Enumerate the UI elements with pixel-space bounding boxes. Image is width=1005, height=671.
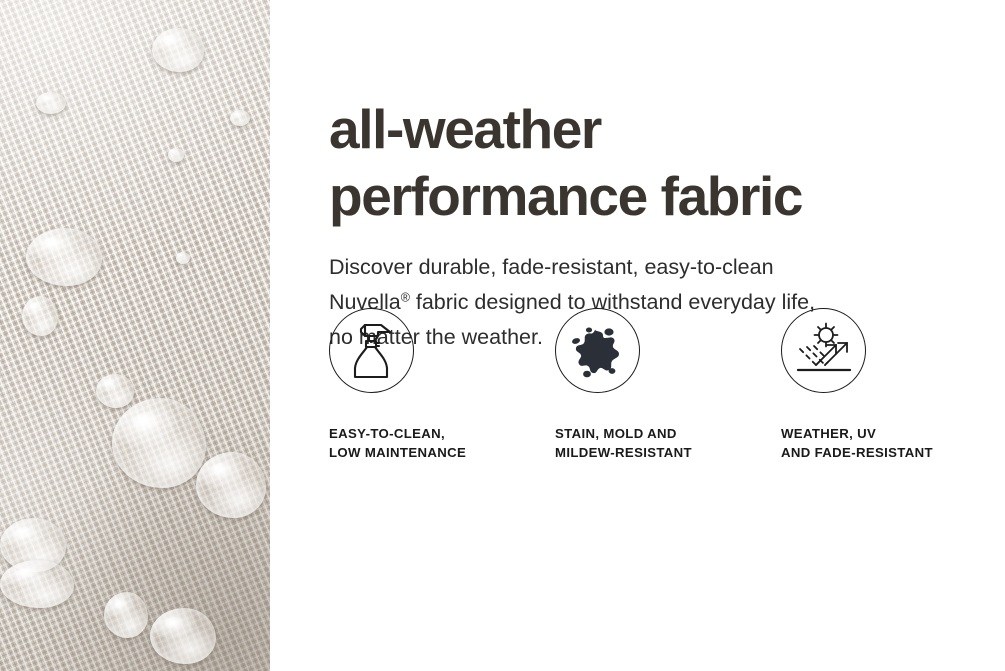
- water-droplet: [36, 92, 66, 114]
- feature-easy-to-clean: EASY-TO-CLEAN, LOW MAINTENANCE: [329, 308, 555, 462]
- feature-caption: STAIN, MOLD AND MILDEW-RESISTANT: [555, 425, 781, 462]
- water-droplet: [0, 560, 74, 608]
- registered-mark: ®: [401, 290, 410, 304]
- caption-line-2: AND FADE-RESISTANT: [781, 444, 991, 463]
- page-title: all-weather performance fabric: [329, 96, 1005, 230]
- water-droplet: [196, 452, 266, 518]
- water-droplet: [168, 148, 184, 162]
- water-droplet: [104, 592, 148, 638]
- caption-line-1: WEATHER, UV: [781, 425, 991, 444]
- content-panel: all-weather performance fabric Discover …: [270, 0, 1005, 671]
- headline-line-1: all-weather: [329, 96, 1005, 163]
- caption-line-2: MILDEW-RESISTANT: [555, 444, 781, 463]
- water-droplet: [176, 252, 190, 264]
- feature-caption: WEATHER, UV AND FADE-RESISTANT: [781, 425, 991, 462]
- feature-weather-uv-resistant: WEATHER, UV AND FADE-RESISTANT: [781, 308, 991, 462]
- water-droplet: [112, 398, 206, 488]
- feature-caption: EASY-TO-CLEAN, LOW MAINTENANCE: [329, 425, 555, 462]
- water-droplet: [152, 28, 204, 72]
- all-weather-fabric-banner: all-weather performance fabric Discover …: [0, 0, 1005, 671]
- stain-splatter-icon: [555, 308, 640, 393]
- water-droplet: [230, 110, 250, 126]
- spray-bottle-icon: [329, 308, 414, 393]
- caption-line-2: LOW MAINTENANCE: [329, 444, 555, 463]
- description-line-1: Discover durable, fade-resistant, easy-t…: [329, 250, 1005, 285]
- fabric-photo: [0, 0, 270, 671]
- caption-line-1: STAIN, MOLD AND: [555, 425, 781, 444]
- headline-line-2: performance fabric: [329, 163, 1005, 230]
- water-droplet: [150, 608, 216, 664]
- water-droplet: [96, 374, 134, 408]
- feature-stain-resistant: STAIN, MOLD AND MILDEW-RESISTANT: [555, 308, 781, 462]
- caption-line-1: EASY-TO-CLEAN,: [329, 425, 555, 444]
- feature-list: EASY-TO-CLEAN, LOW MAINTENANCE: [329, 308, 989, 462]
- sun-reflect-icon: [781, 308, 866, 393]
- water-droplet: [22, 296, 58, 336]
- water-droplet: [26, 228, 102, 286]
